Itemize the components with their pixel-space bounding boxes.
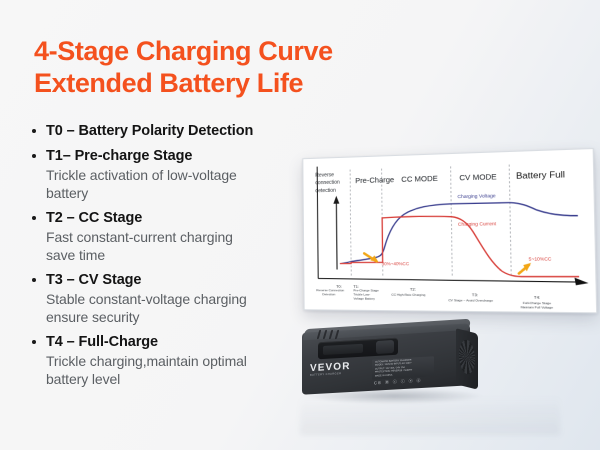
list-item: T4 – Full-Charge Trickle charging,mainta…: [30, 333, 330, 389]
annotation-arrow-2-icon: [519, 263, 532, 274]
list-item-title: T0 – Battery Polarity Detection: [46, 122, 330, 141]
bullet-dot-icon: [32, 216, 36, 220]
bullet-dot-icon: [32, 154, 36, 158]
list-item-subtitle: Stable constant-voltage charging ensure …: [46, 291, 330, 327]
product-handle-grip: [376, 340, 394, 354]
series-label-charging-voltage: Charging Voltage: [457, 193, 496, 199]
reverse-detection-arrow-icon: [336, 201, 337, 270]
axis-label-t2-id: T2:: [410, 288, 416, 292]
stage-header-pre-charge: Pre-Charge: [355, 175, 394, 185]
list-item-subtitle: Trickle charging,maintain optimal batter…: [46, 353, 330, 389]
stage-header-battery-full: Battery Full: [516, 169, 565, 181]
headline-line-1: 4-Stage Charging Curve: [34, 36, 333, 66]
chart-canvas: Reverse connection detection Pre-Charge …: [303, 149, 596, 312]
stage-header-reverse-l1: Reverse: [315, 172, 334, 179]
charging-curve-chart: Reverse connection detection Pre-Charge …: [302, 148, 597, 313]
series-label-charging-current: Charging Current: [458, 221, 497, 227]
list-item-title: T2 – CC Stage: [46, 209, 330, 228]
axis-label-t2-l1: CC High-Rate Charging: [391, 293, 426, 297]
list-item-subtitle: Fast constant-current charging save time: [46, 229, 330, 265]
list-item-title: T4 – Full-Charge: [46, 333, 330, 352]
list-item-title: T3 – CV Stage: [46, 271, 330, 290]
product-image: VEVOR BATTERY CHARGER AUTOMATIC BATTERY …: [296, 322, 486, 400]
stage-header-cv-mode: CV MODE: [459, 172, 497, 183]
slide-root: 4-Stage Charging Curve Extended Battery …: [0, 0, 600, 450]
stage-header-cc-mode: CC MODE: [401, 174, 438, 184]
list-item: T3 – CV Stage Stable constant-voltage ch…: [30, 271, 330, 327]
chart-svg: Reverse connection detection Pre-Charge …: [303, 149, 596, 312]
bullet-dot-icon: [32, 340, 36, 344]
axis-label-t0-l2: Detection: [322, 292, 335, 296]
reverse-detection-arrowhead-icon: [333, 196, 339, 204]
stage-header-reverse-l3: detection: [315, 188, 336, 195]
axis-label-t4-l2: Maintain Full Voltage: [521, 305, 554, 310]
axis-label-t3-l1: CV Stage – Avoid Overcharge: [448, 298, 493, 303]
chart-card: Reverse connection detection Pre-Charge …: [302, 148, 597, 313]
annotation-2-label: 5~10%CC: [529, 256, 552, 261]
axis-label-t4-id: T4:: [534, 296, 540, 300]
axis-label-t3-id: T3:: [472, 293, 478, 297]
surface-reflection: [300, 395, 560, 435]
bullet-dot-icon: [32, 129, 36, 133]
stage-header-reverse-l2: connection: [315, 180, 340, 187]
list-item: T2 – CC Stage Fast constant-current char…: [30, 209, 330, 265]
annotation-1-label: 30%~40%CC: [382, 261, 410, 266]
product-spec-label: AUTOMATIC BATTERY CHARGER MODEL: 12V/24V…: [372, 356, 434, 379]
product-handle-inset: [323, 344, 363, 355]
x-axis-arrowhead-icon: [575, 278, 589, 286]
list-item: T0 – Battery Polarity Detection: [30, 122, 330, 141]
list-item: T1– Pre-charge Stage Trickle activation …: [30, 147, 330, 203]
headline-line-2: Extended Battery Life: [34, 68, 394, 100]
list-item-subtitle: Trickle activation of low-voltage batter…: [46, 167, 330, 203]
list-item-title: T1– Pre-charge Stage: [46, 147, 330, 166]
charging-voltage-curve: [350, 201, 578, 261]
page-title: 4-Stage Charging Curve Extended Battery …: [34, 36, 394, 99]
bullet-dot-icon: [32, 278, 36, 282]
feature-list: T0 – Battery Polarity Detection T1– Pre-…: [30, 122, 330, 395]
axis-label-t1-l3: Voltage Battery: [353, 297, 375, 301]
x-axis: [318, 278, 579, 282]
